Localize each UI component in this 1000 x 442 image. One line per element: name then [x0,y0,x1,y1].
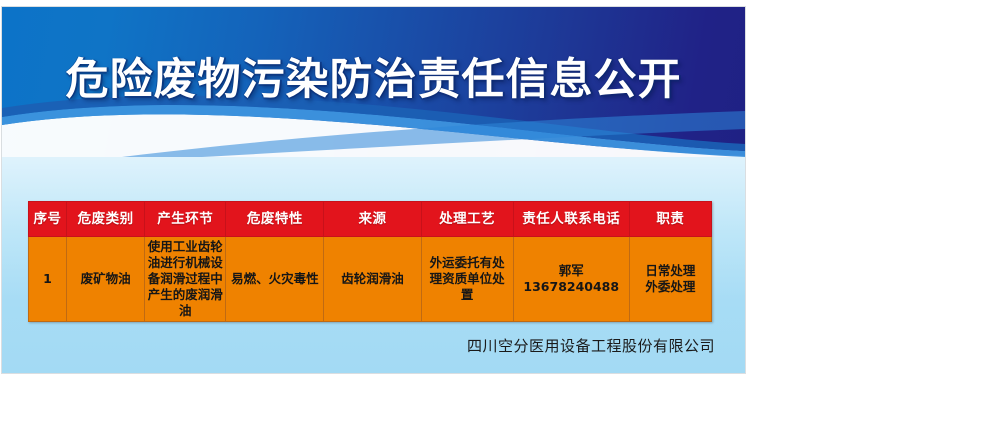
col-header-hazard: 危废特性 [226,202,324,237]
col-header-duty: 职责 [629,202,711,237]
cell-category: 废矿物油 [67,237,145,322]
cell-source: 齿轮润滑油 [324,237,421,322]
banner-header: 危险废物污染防治责任信息公开 [2,7,745,157]
duty-line-2: 外委处理 [632,279,709,295]
cell-process: 外运委托有处理资质单位处置 [421,237,513,322]
cell-duty: 日常处理 外委处理 [629,237,711,322]
company-name: 四川空分医用设备工程股份有限公司 [2,335,715,356]
cell-contact: 郭军 13678240488 [513,237,629,322]
cell-hazard: 易燃、火灾毒性 [226,237,324,322]
col-header-category: 危废类别 [67,202,145,237]
table-header-row: 序号 危废类别 产生环节 危废特性 来源 处理工艺 责任人联系电话 职责 [29,202,712,237]
contact-phone: 13678240488 [516,279,627,295]
information-disclosure-poster: 危险废物污染防治责任信息公开 序号 危废类别 产生环节 危废特性 来源 处理工艺 [2,7,745,373]
col-header-contact: 责任人联系电话 [513,202,629,237]
duty-line-1: 日常处理 [632,263,709,279]
contact-name: 郭军 [516,263,627,279]
cell-seq: 1 [29,237,67,322]
col-header-stage: 产生环节 [145,202,226,237]
cell-stage: 使用工业齿轮油进行机械设备润滑过程中产生的废润滑油 [145,237,226,322]
col-header-seq: 序号 [29,202,67,237]
hazardous-waste-table-wrapper: 序号 危废类别 产生环节 危废特性 来源 处理工艺 责任人联系电话 职责 1 废… [28,201,712,322]
col-header-process: 处理工艺 [421,202,513,237]
poster-canvas: 危险废物污染防治责任信息公开 序号 危废类别 产生环节 危废特性 来源 处理工艺 [0,0,1000,442]
page-title: 危险废物污染防治责任信息公开 [2,59,745,102]
col-header-source: 来源 [324,202,421,237]
hazardous-waste-table: 序号 危废类别 产生环节 危废特性 来源 处理工艺 责任人联系电话 职责 1 废… [28,201,712,322]
table-row: 1 废矿物油 使用工业齿轮油进行机械设备润滑过程中产生的废润滑油 易燃、火灾毒性… [29,237,712,322]
